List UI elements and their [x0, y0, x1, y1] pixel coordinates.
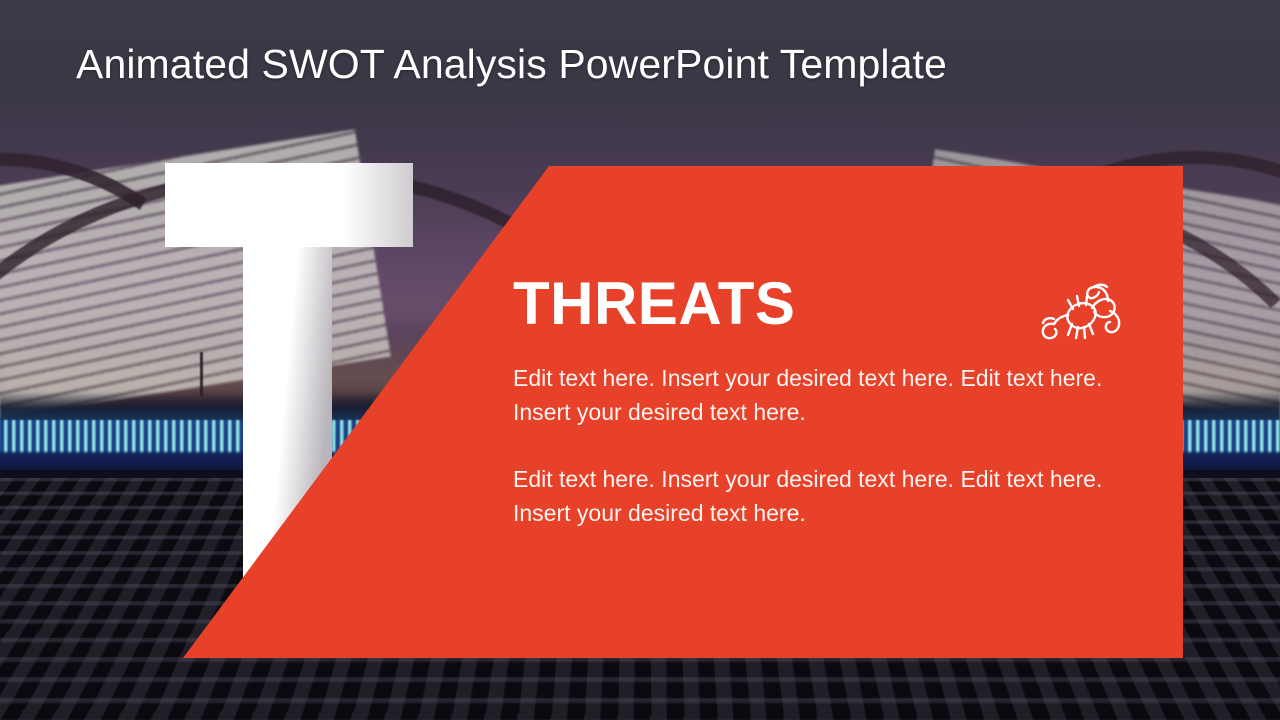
panel-paragraph-1: Edit text here. Insert your desired text…	[513, 361, 1111, 429]
panel-heading: THREATS	[513, 272, 1113, 335]
panel-paragraph-2: Edit text here. Insert your desired text…	[513, 462, 1111, 530]
threats-content: THREATS Edit text here. Insert your desi…	[513, 272, 1113, 530]
swot-threats-slide: Animated SWOT Analysis PowerPoint Templa…	[0, 0, 1280, 720]
scorpion-icon	[1032, 275, 1128, 349]
